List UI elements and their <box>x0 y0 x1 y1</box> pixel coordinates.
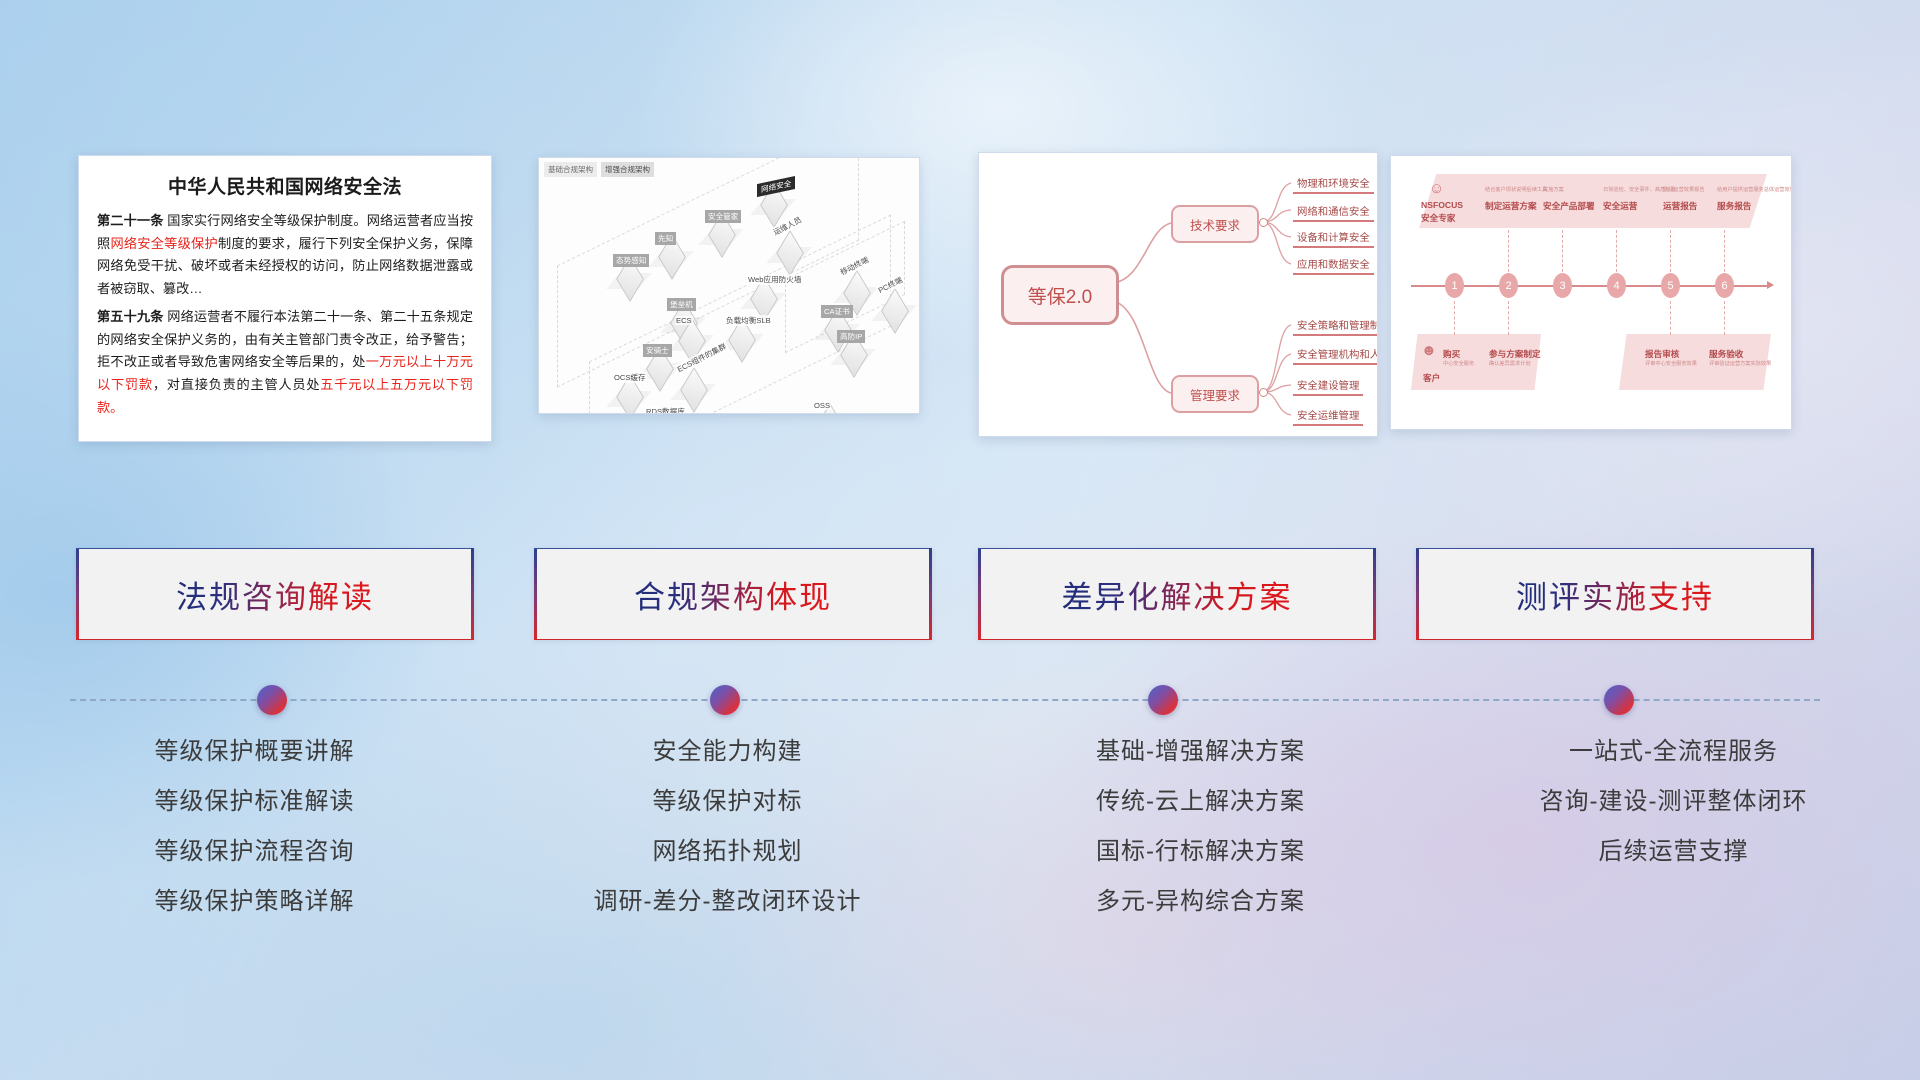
list-item: 一站式-全流程服务 <box>1437 740 1910 764</box>
list-item: 后续运营支撑 <box>1437 840 1910 864</box>
list-item: 调研-差分-整改闭环设计 <box>491 890 964 914</box>
timeline-marker-2[interactable] <box>710 685 740 715</box>
detail-list-assessment: 一站式-全流程服务咨询-建设-测评整体闭环后续运营支撑 <box>1437 740 1910 940</box>
detail-list-architecture: 安全能力构建等级保护对标网络拓扑规划调研-差分-整改闭环设计 <box>491 740 964 940</box>
timeline-dashed-line <box>70 699 1820 701</box>
list-item: 多元-异构综合方案 <box>964 890 1437 914</box>
timeline-marker-1[interactable] <box>257 685 287 715</box>
list-item: 等级保护流程咨询 <box>18 840 491 864</box>
list-item: 咨询-建设-测评整体闭环 <box>1437 790 1910 814</box>
list-item: 等级保护对标 <box>491 790 964 814</box>
detail-list-solution: 基础-增强解决方案传统-云上解决方案国标-行标解决方案多元-异构综合方案 <box>964 740 1437 940</box>
list-item: 等级保护概要讲解 <box>18 740 491 764</box>
list-item: 等级保护标准解读 <box>18 790 491 814</box>
list-item: 安全能力构建 <box>491 740 964 764</box>
list-item: 传统-云上解决方案 <box>964 790 1437 814</box>
detail-list-regulation: 等级保护概要讲解等级保护标准解读等级保护流程咨询等级保护策略详解 <box>18 740 491 940</box>
service-detail-lists: 等级保护概要讲解等级保护标准解读等级保护流程咨询等级保护策略详解 安全能力构建等… <box>0 740 1920 940</box>
list-item: 网络拓扑规划 <box>491 840 964 864</box>
list-item: 国标-行标解决方案 <box>964 840 1437 864</box>
list-item: 基础-增强解决方案 <box>964 740 1437 764</box>
timeline-marker-3[interactable] <box>1148 685 1178 715</box>
timeline-marker-4[interactable] <box>1604 685 1634 715</box>
list-item: 等级保护策略详解 <box>18 890 491 914</box>
